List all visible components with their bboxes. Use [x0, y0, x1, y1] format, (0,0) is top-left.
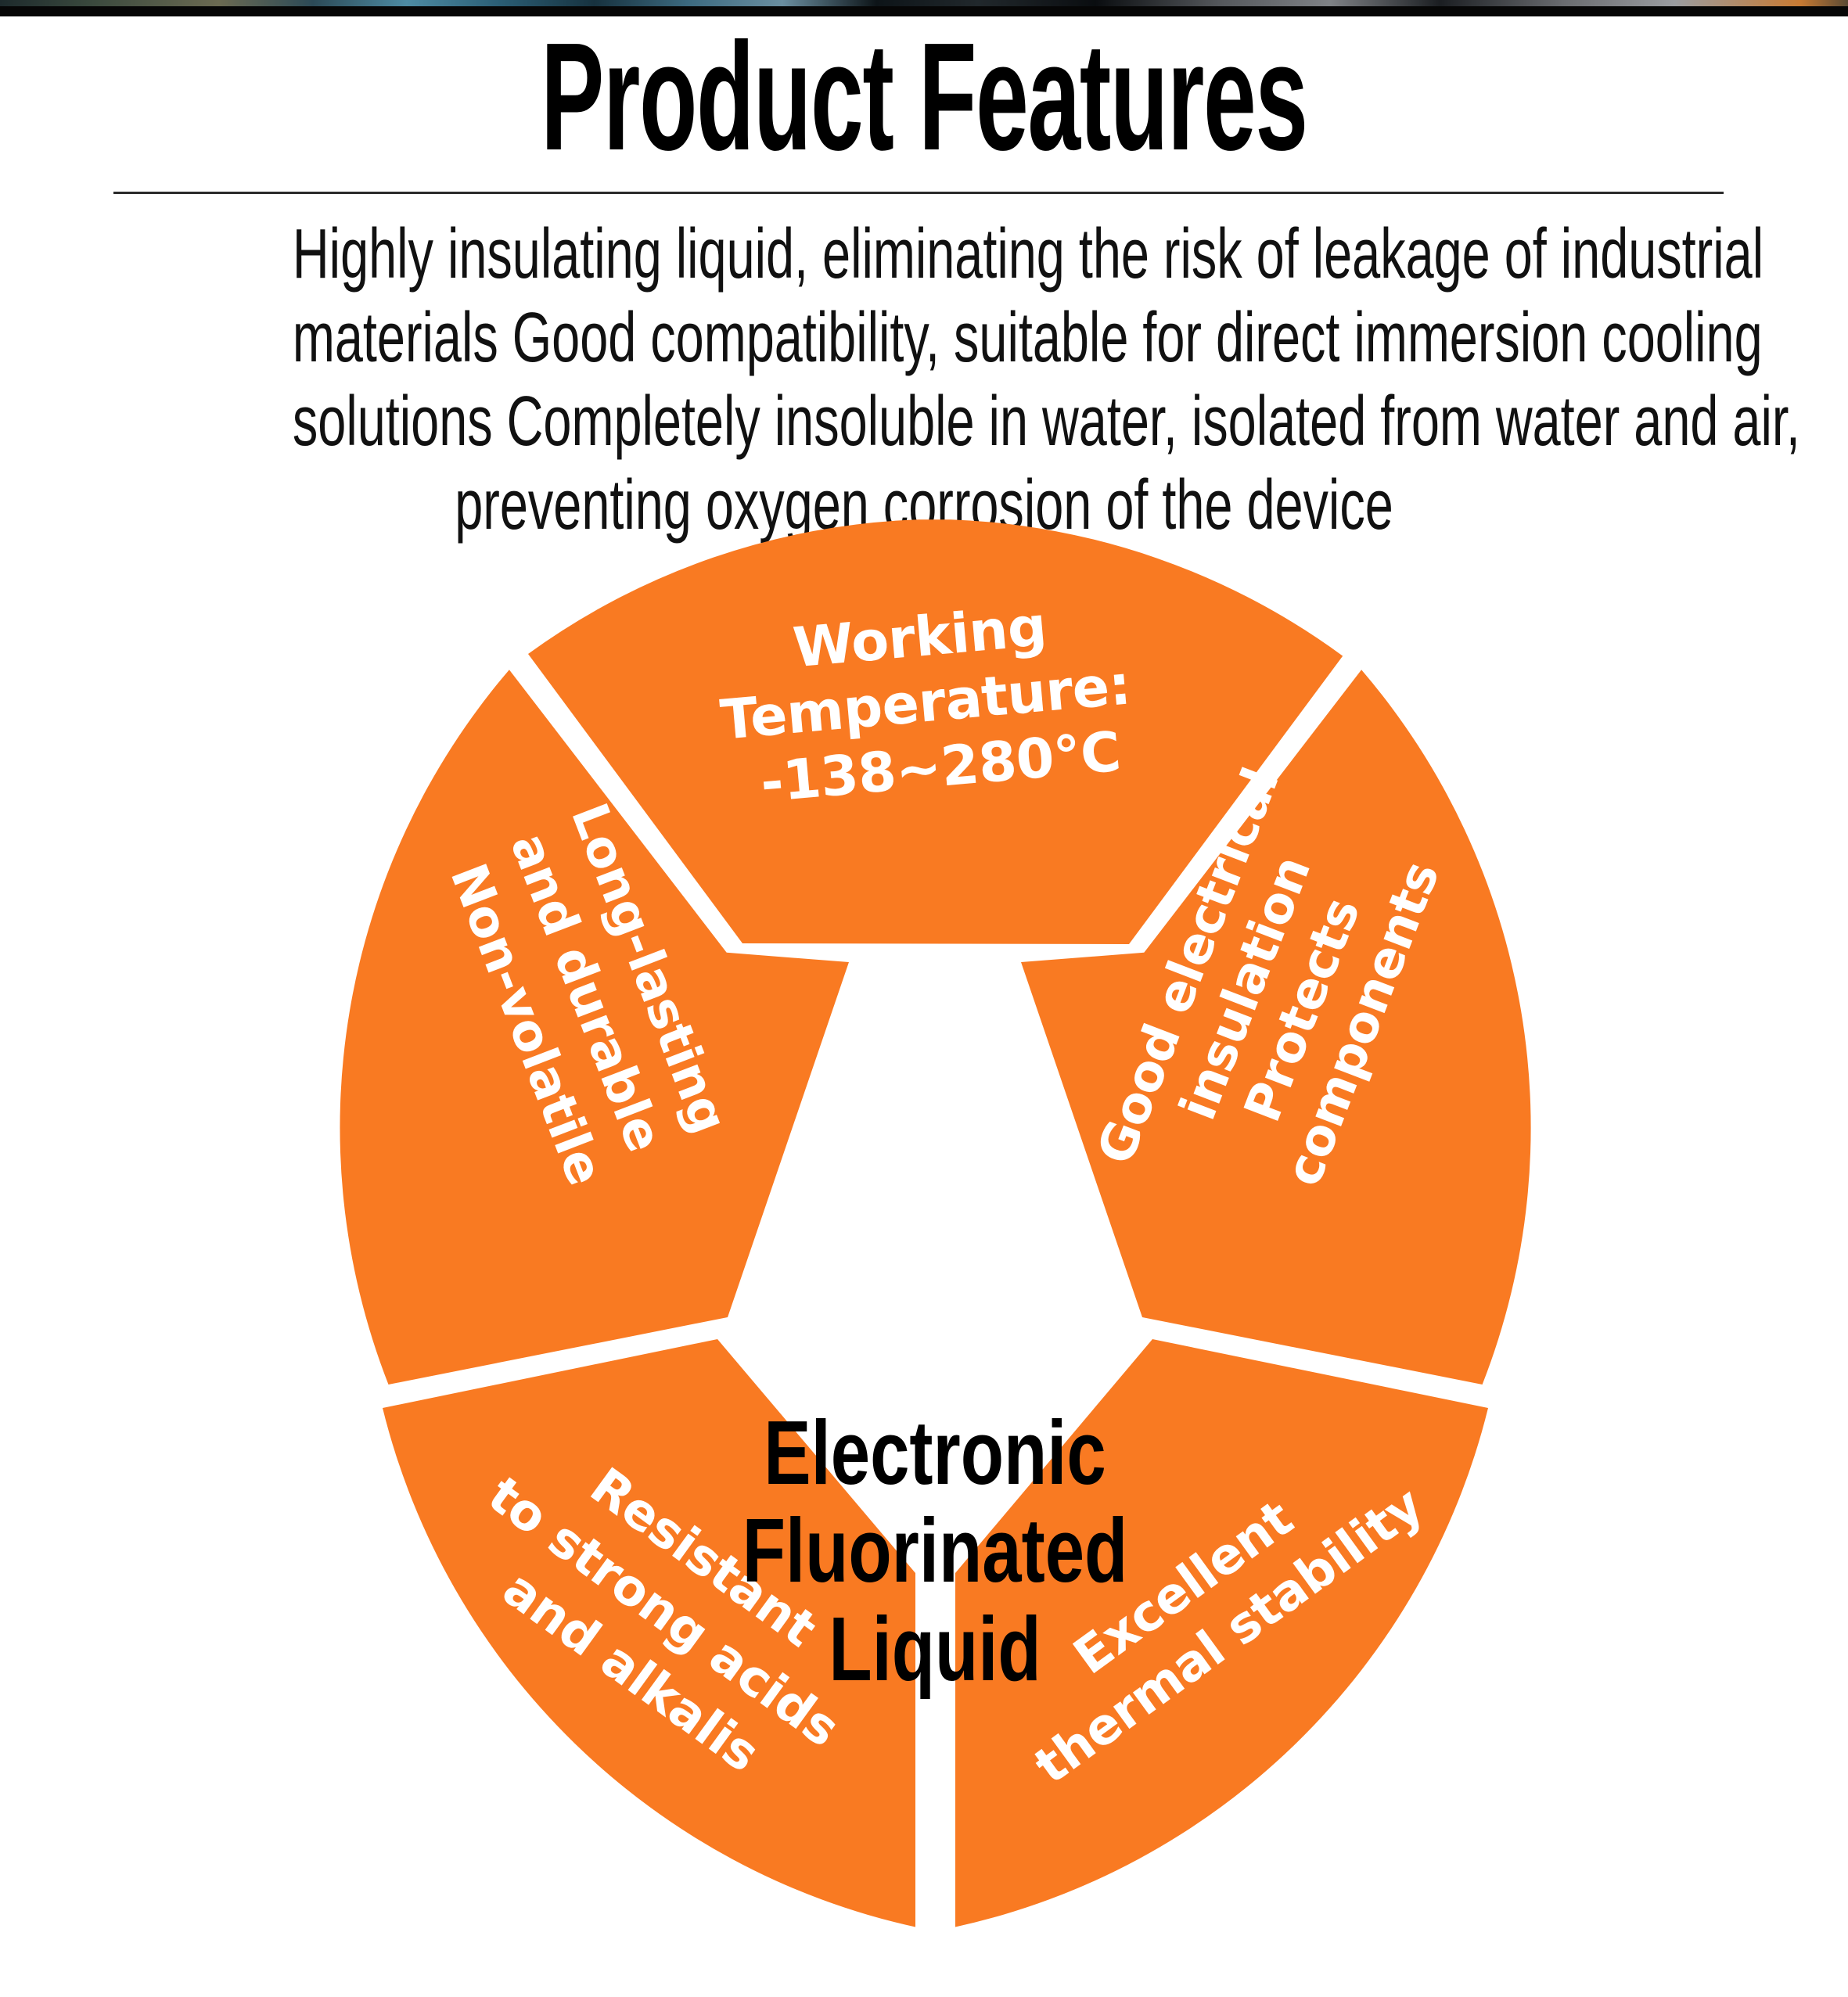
page-title: Product Features: [351, 20, 1497, 174]
title-divider: [113, 192, 1724, 194]
segment-excellent-thermal-stability[interactable]: Excellent thermal stability: [955, 1339, 1488, 1927]
top-photo-strip: [0, 0, 1848, 6]
donut-svg: Working Temperature: -138~280°C Good ele…: [0, 501, 1848, 1963]
segment-resistant-acids-alkalis[interactable]: Resistant to strong acids and alkalis: [383, 1339, 915, 1927]
subtitle-line-1: Highly insulating liquid, eliminating th…: [293, 213, 1555, 296]
infographic-page: Product Features Highly insulating liqui…: [0, 0, 1848, 1997]
subtitle-line-3: solutions Completely insoluble in water,…: [293, 380, 1555, 464]
page-subtitle: Highly insulating liquid, eliminating th…: [293, 213, 1555, 548]
feature-donut-diagram: Working Temperature: -138~280°C Good ele…: [0, 501, 1848, 1963]
subtitle-line-2: materials Good compatibility, suitable f…: [293, 296, 1555, 380]
